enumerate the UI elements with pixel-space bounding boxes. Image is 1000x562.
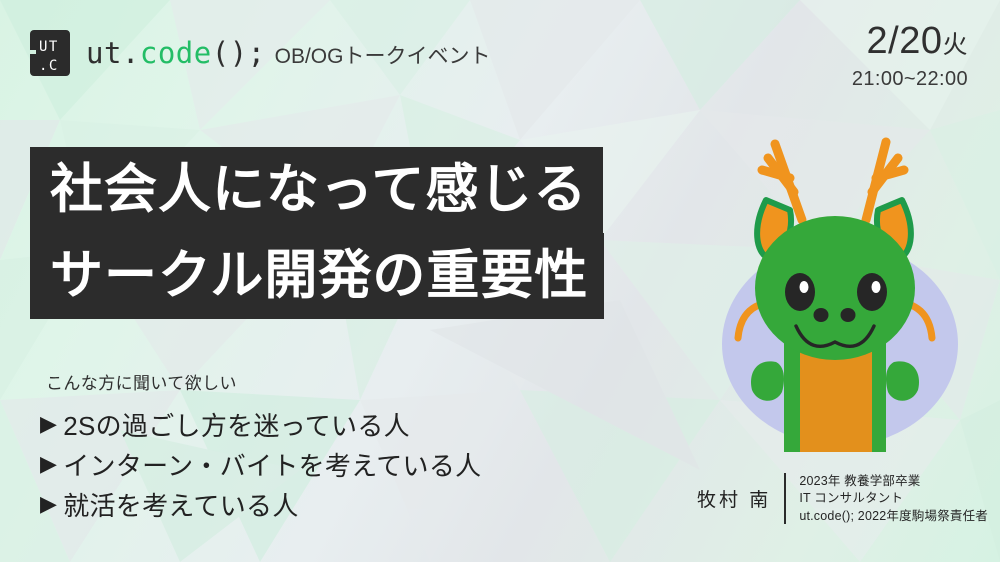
speaker-block: 牧村 南 2023年 教養学部卒業 IT コンサルタント ut.code(); …: [697, 473, 988, 525]
list-item: ▶ 2Sの過ごし方を迷っている人: [40, 404, 481, 444]
title-line-2: サークル開発の重要性: [30, 233, 604, 319]
triangle-bullet-icon: ▶: [40, 493, 57, 515]
brand-header: UT .C ut.code(); OB/OGトークイベント: [28, 28, 490, 78]
svg-text:UT: UT: [39, 39, 59, 55]
event-date: 2/20火: [852, 22, 968, 60]
event-date-block: 2/20火 21:00~22:00: [852, 22, 968, 89]
list-item: ▶ インターン・バイトを考えている人: [40, 444, 481, 484]
svg-text:.C: .C: [39, 58, 59, 74]
utcode-logo-icon: UT .C: [28, 28, 72, 78]
brand-title: ut.code(); OB/OGトークイベント: [86, 36, 490, 70]
brand-code-word: code: [140, 36, 212, 70]
list-item-label: インターン・バイトを考えている人: [63, 446, 481, 483]
poster-title: 社会人になって感じる サークル開発の重要性: [30, 147, 604, 319]
audience-lead: こんな方に聞いて欲しい: [46, 369, 237, 394]
audience-list: ▶ 2Sの過ごし方を迷っている人 ▶ インターン・バイトを考えている人 ▶ 就活…: [40, 404, 481, 524]
title-line-1: 社会人になって感じる: [30, 147, 603, 233]
list-item-label: 就活を考えている人: [63, 486, 298, 523]
brand-prefix: ut.: [86, 36, 140, 70]
speaker-credentials: 2023年 教養学部卒業 IT コンサルタント ut.code(); 2022年…: [799, 473, 988, 525]
event-date-value: 2/20: [867, 20, 943, 62]
event-poster: UT .C ut.code(); OB/OGトークイベント 2/20火 21:0…: [0, 0, 1000, 562]
dragon-mascot-icon: [690, 112, 990, 452]
event-time: 21:00~22:00: [852, 69, 968, 89]
event-subtitle: OB/OGトークイベント: [275, 40, 491, 70]
list-item: ▶ 就活を考えている人: [40, 484, 481, 524]
speaker-credential-line: ut.code(); 2022年度駒場祭責任者: [799, 509, 988, 524]
list-item-label: 2Sの過ごし方を迷っている人: [63, 406, 410, 443]
speaker-name: 牧村 南: [697, 485, 771, 512]
triangle-bullet-icon: ▶: [40, 453, 57, 475]
event-day-of-week: 火: [942, 31, 968, 59]
brand-suffix: ();: [212, 36, 266, 70]
speaker-credential-line: IT コンサルタント: [799, 491, 988, 506]
speaker-credential-line: 2023年 教養学部卒業: [799, 474, 988, 489]
triangle-bullet-icon: ▶: [40, 413, 57, 435]
speaker-divider: [784, 473, 786, 525]
